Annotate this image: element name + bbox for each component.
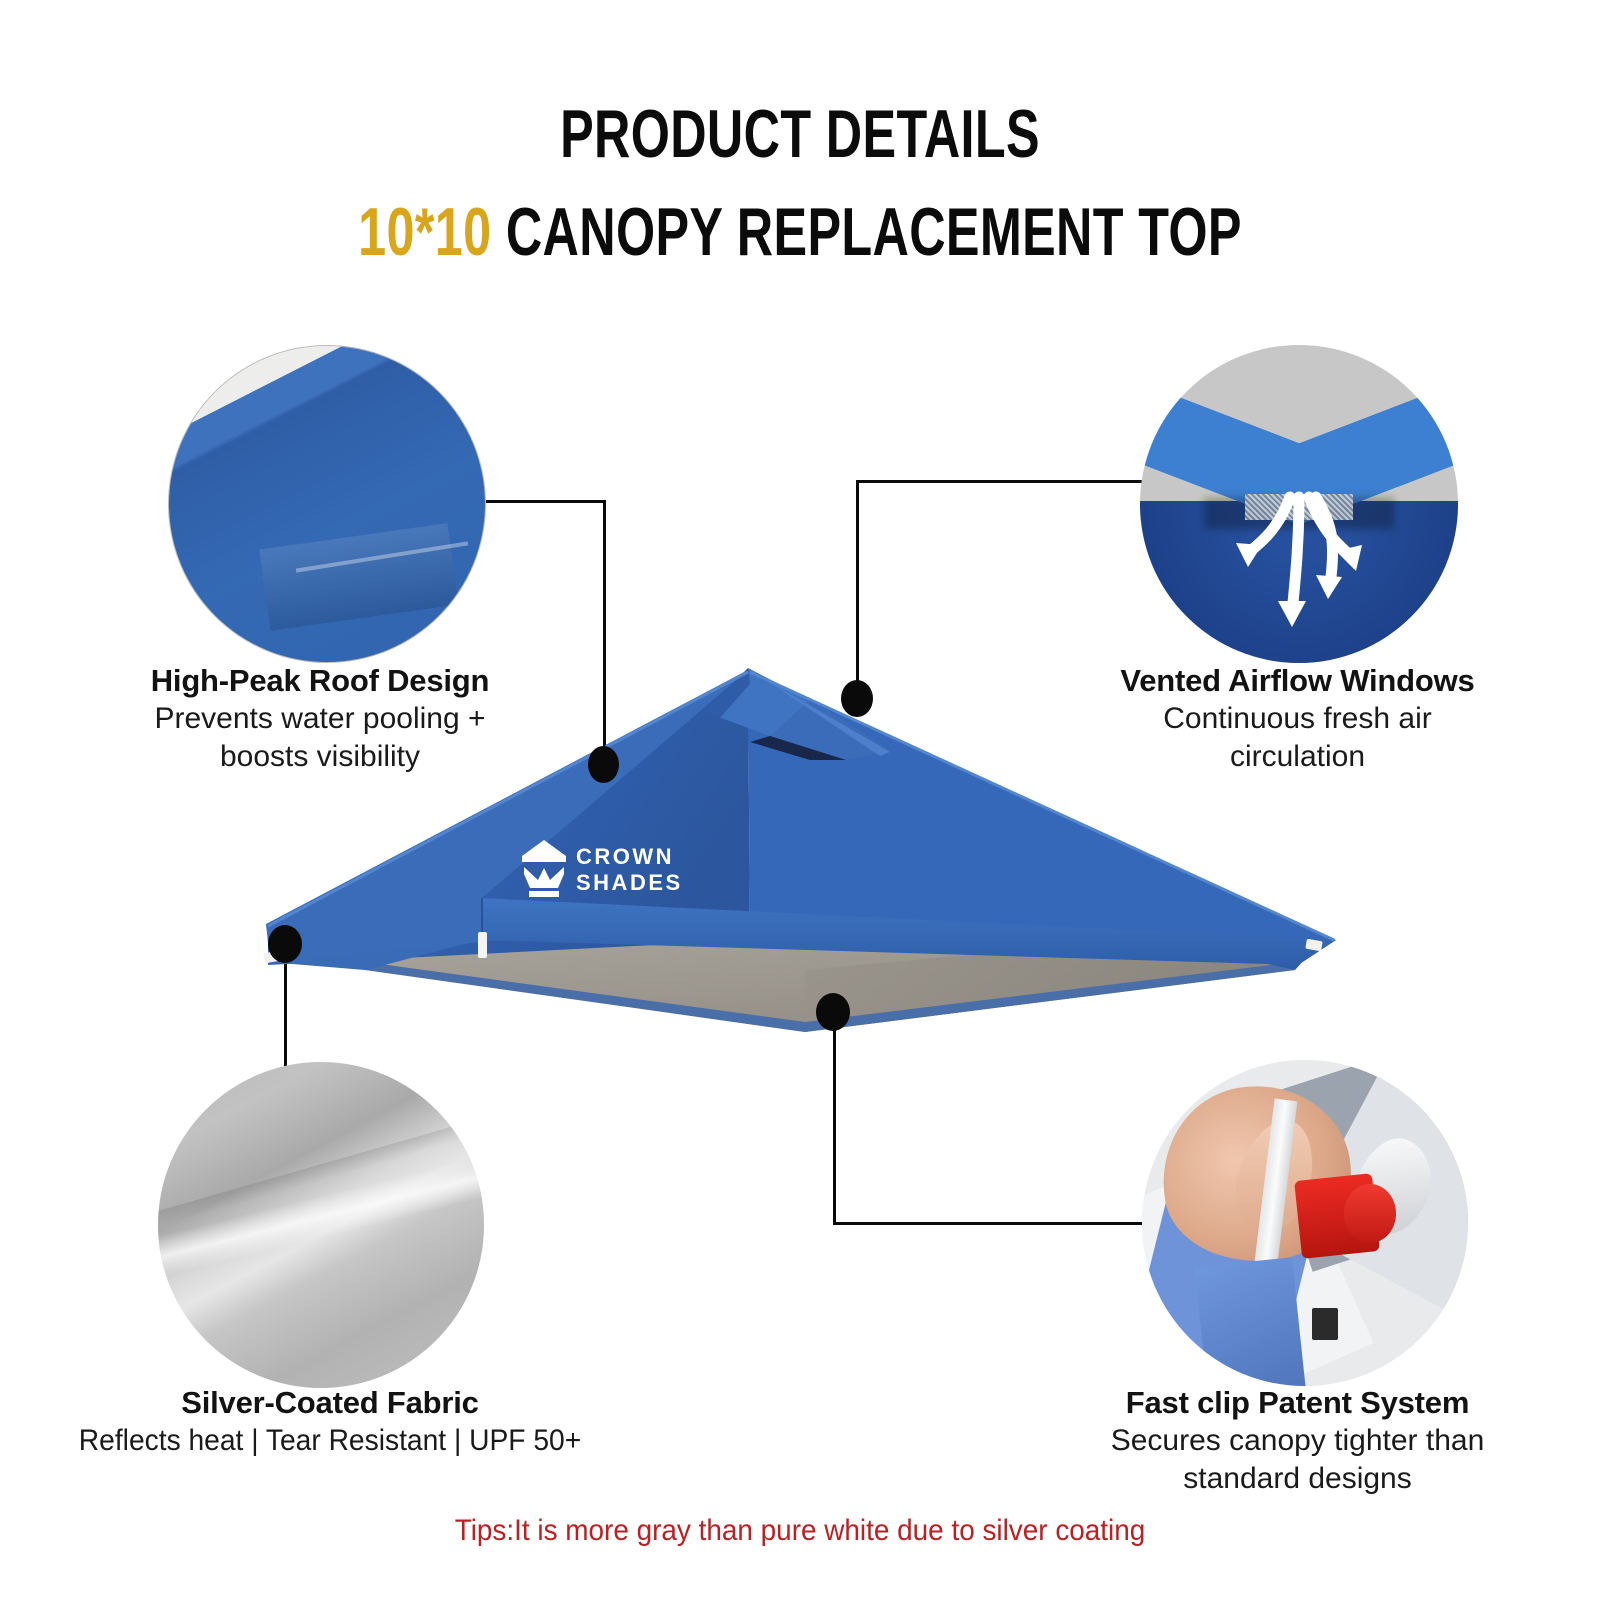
connector-dot-vent — [841, 680, 873, 717]
feature-body-line1: Continuous fresh air — [1035, 700, 1560, 738]
feature-heading: Vented Airflow Windows — [1035, 662, 1560, 700]
feature-caption-high-peak-roof: High-Peak Roof Design Prevents water poo… — [40, 662, 600, 776]
feature-body-line1: Secures canopy tighter than — [1025, 1422, 1570, 1460]
feature-image-high-peak-roof — [168, 345, 486, 663]
feature-heading: Silver-Coated Fabric — [10, 1384, 650, 1422]
product-details-infographic: PRODUCT DETAILS 10*10 CANOPY REPLACEMENT… — [0, 0, 1600, 1600]
connector-line-high-peak-h — [486, 500, 606, 503]
page-title: PRODUCT DETAILS — [208, 95, 1392, 173]
feature-image-silver-fabric — [158, 1062, 484, 1388]
feature-body-line2: boosts visibility — [40, 738, 600, 776]
feature-caption-silver-fabric: Silver-Coated Fabric Reflects heat | Tea… — [10, 1384, 650, 1460]
page-subtitle-rest: CANOPY REPLACEMENT TOP — [492, 194, 1242, 270]
feature-image-fast-clip — [1142, 1060, 1468, 1386]
feature-heading: High-Peak Roof Design — [40, 662, 600, 700]
tips-note: Tips:It is more gray than pure white due… — [56, 1514, 1544, 1548]
connector-dot-silver — [268, 925, 302, 963]
logo-text-crown: CROWN — [576, 844, 674, 869]
feature-body-line1: Prevents water pooling + — [40, 700, 600, 738]
red-clip-head — [1344, 1184, 1396, 1243]
clip-black-fastener — [1312, 1308, 1338, 1341]
feature-body-line2: standard designs — [1025, 1460, 1570, 1498]
connector-line-vent-h — [856, 480, 1144, 483]
connector-dot-clip — [816, 993, 850, 1031]
connector-line-clip-h — [833, 1222, 1163, 1225]
feature-heading: Fast clip Patent System — [1025, 1384, 1570, 1422]
feature-caption-fast-clip: Fast clip Patent System Secures canopy t… — [1025, 1384, 1570, 1498]
feature-body-line2: circulation — [1035, 738, 1560, 776]
page-subtitle: 10*10 CANOPY REPLACEMENT TOP — [208, 192, 1392, 272]
airflow-arrows-icon — [1140, 345, 1458, 663]
feature-caption-vented-airflow: Vented Airflow Windows Continuous fresh … — [1035, 662, 1560, 776]
feature-body-line1: Reflects heat | Tear Resistant | UPF 50+ — [29, 1422, 631, 1460]
canopy-size-accent: 10*10 — [358, 194, 491, 270]
canopy-corner-tab-left — [478, 932, 487, 958]
feature-image-vented-airflow — [1140, 345, 1458, 663]
logo-text-shades: SHADES — [576, 870, 683, 895]
clip-blue-corner-fabric — [1194, 1257, 1305, 1386]
